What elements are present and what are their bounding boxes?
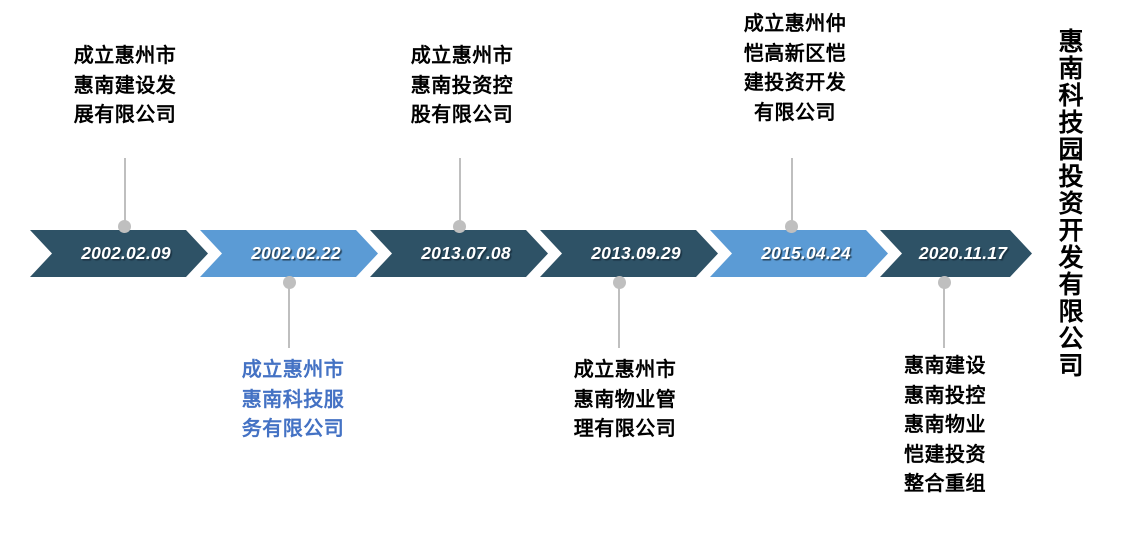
milestone-date-1: 2002.02.09 (67, 243, 171, 264)
milestone-caption-5: 成立惠州仲 恺高新区恺 建投资开发 有限公司 (705, 10, 885, 128)
milestone-chevron-6[interactable]: 2020.11.17 (880, 230, 1032, 277)
milestone-caption-6: 惠南建设 惠南投控 惠南物业 恺建投资 整合重组 (855, 352, 1035, 500)
milestone-chevron-4[interactable]: 2013.09.29 (540, 230, 718, 277)
milestone-chevron-1[interactable]: 2002.02.09 (30, 230, 208, 277)
milestone-date-4: 2013.09.29 (577, 243, 681, 264)
milestone-chevron-3[interactable]: 2013.07.08 (370, 230, 548, 277)
connector-stem-6 (943, 282, 945, 348)
connector-dot-1 (118, 220, 131, 233)
milestone-date-3: 2013.07.08 (407, 243, 511, 264)
connector-stem-1 (124, 158, 126, 226)
connector-dot-3 (453, 220, 466, 233)
milestone-chevron-5[interactable]: 2015.04.24 (710, 230, 888, 277)
connector-stem-2 (288, 282, 290, 348)
milestone-chevron-2[interactable]: 2002.02.22 (200, 230, 378, 277)
connector-stem-5 (791, 158, 793, 226)
milestone-date-2: 2002.02.22 (237, 243, 341, 264)
milestone-date-6: 2020.11.17 (905, 243, 1007, 264)
milestone-caption-3: 成立惠州市 惠南投资控 股有限公司 (372, 42, 552, 131)
milestone-caption-4: 成立惠州市 惠南物业管 理有限公司 (535, 356, 715, 445)
milestone-caption-1: 成立惠州市 惠南建设发 展有限公司 (35, 42, 215, 131)
milestone-date-5: 2015.04.24 (747, 243, 851, 264)
timeline-diagram: 2002.02.09 成立惠州市 惠南建设发 展有限公司 2002.02.22 … (0, 0, 1133, 533)
connector-stem-3 (459, 158, 461, 226)
connector-stem-4 (618, 282, 620, 348)
milestone-caption-2: 成立惠州市 惠南科技服 务有限公司 (203, 356, 383, 445)
connector-dot-5 (785, 220, 798, 233)
vertical-company-title: 惠南科技园投资开发有限公司 (1053, 28, 1085, 506)
